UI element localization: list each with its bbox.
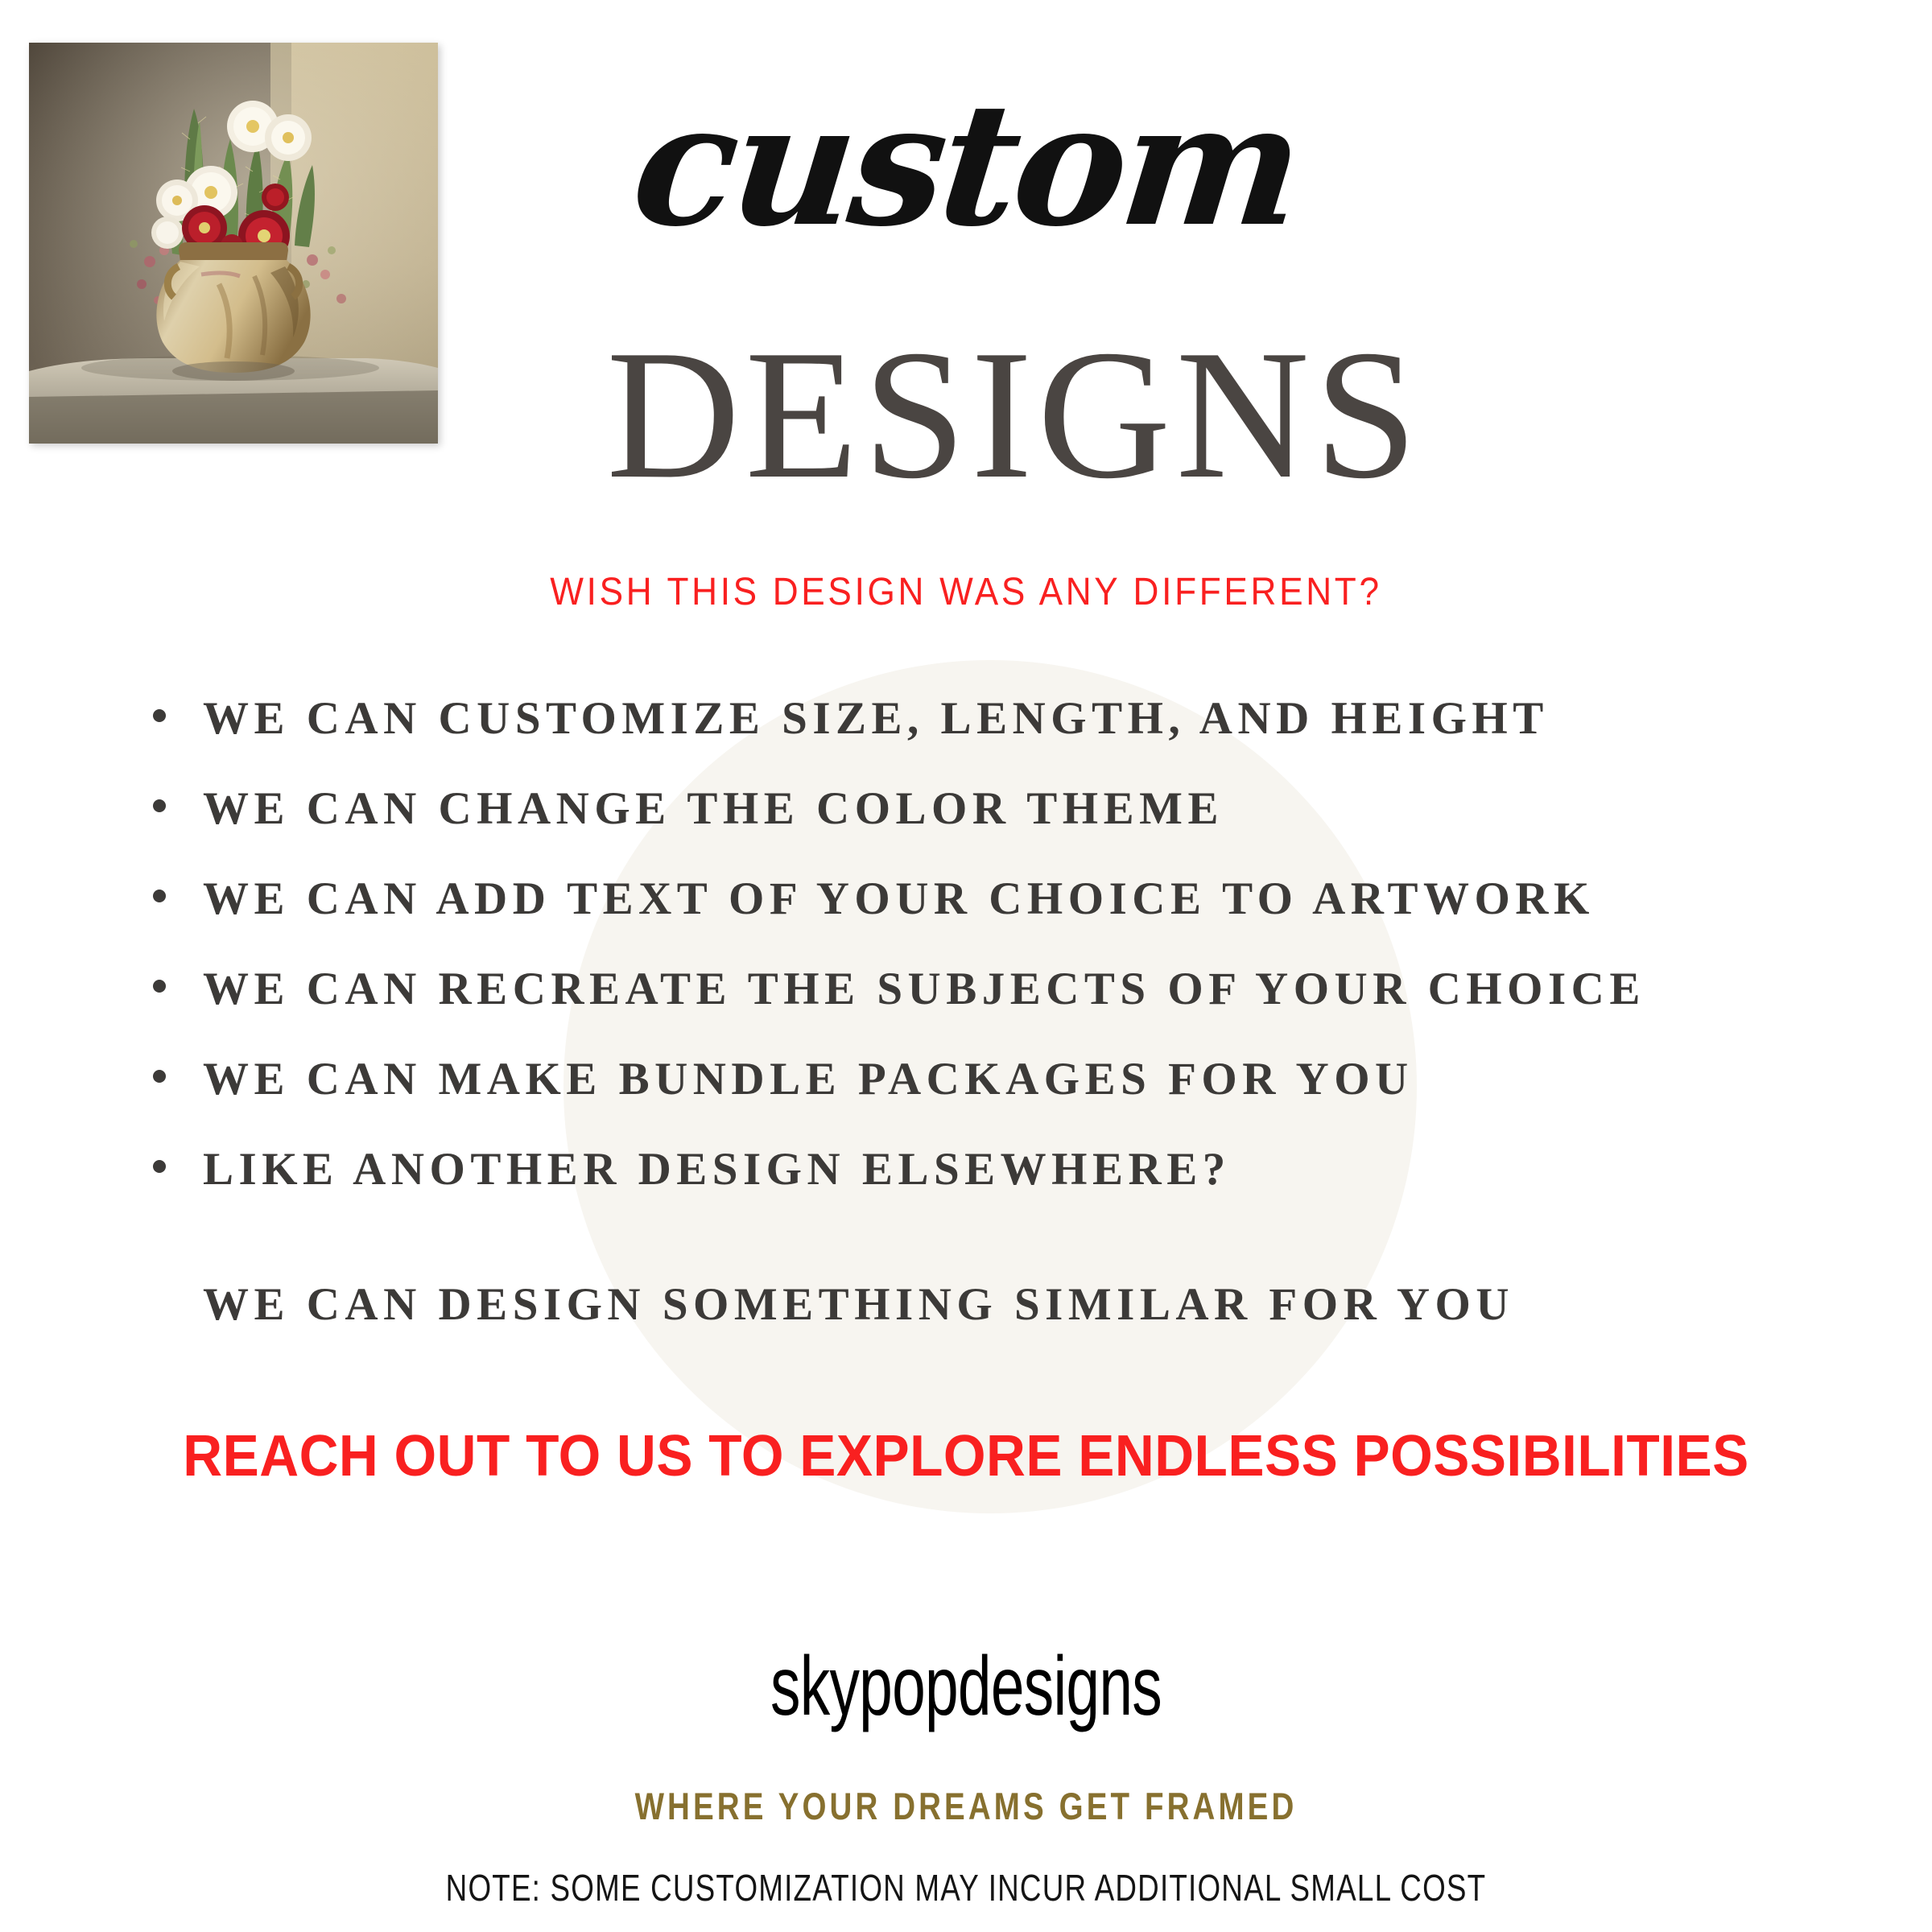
list-item: WE CAN MAKE BUNDLE PACKAGES FOR YOU	[153, 1053, 1803, 1143]
page-title-designs: DESIGNS	[0, 322, 1932, 507]
list-item-label: WE CAN CHANGE THE COLOR THEME	[203, 782, 1224, 835]
brand-tagline: WHERE YOUR DREAMS GET FRAMED	[174, 1784, 1758, 1828]
list-item-label: WE CAN MAKE BUNDLE PACKAGES FOR YOU	[203, 1053, 1414, 1105]
bullet-dot-icon	[153, 1070, 166, 1083]
list-item-label: WE CAN RECREATE THE SUBJECTS OF YOUR CHO…	[203, 963, 1645, 1015]
list-item-label: LIKE ANOTHER DESIGN ELSEWHERE?	[203, 1143, 1231, 1195]
bullet-dot-icon	[153, 799, 166, 812]
bullet-dot-icon	[153, 1160, 166, 1173]
script-heading-custom: custom	[0, 80, 1932, 250]
list-item-continuation: WE CAN DESIGN SOMETHING SIMILAR FOR YOU	[203, 1278, 1514, 1331]
bullet-dot-icon	[153, 709, 166, 722]
list-item: WE CAN CUSTOMIZE SIZE, LENGTH, AND HEIGH…	[153, 692, 1803, 782]
call-to-action-text: REACH OUT TO US TO EXPLORE ENDLESS POSSI…	[58, 1423, 1874, 1489]
list-item: WE CAN CHANGE THE COLOR THEME	[153, 782, 1803, 873]
bullet-dot-icon	[153, 980, 166, 993]
list-item-label: WE CAN ADD TEXT OF YOUR CHOICE TO ARTWOR…	[203, 873, 1595, 925]
feature-list: WE CAN CUSTOMIZE SIZE, LENGTH, AND HEIGH…	[153, 692, 1803, 1233]
list-item: WE CAN ADD TEXT OF YOUR CHOICE TO ARTWOR…	[153, 873, 1803, 963]
list-item-label: WE CAN CUSTOMIZE SIZE, LENGTH, AND HEIGH…	[203, 692, 1549, 745]
list-item: WE CAN RECREATE THE SUBJECTS OF YOUR CHO…	[153, 963, 1803, 1053]
footer-note: NOTE: SOME CUSTOMIZATION MAY INCUR ADDIT…	[193, 1866, 1739, 1909]
bullet-dot-icon	[153, 890, 166, 902]
subtitle-question: WISH THIS DESIGN WAS ANY DIFFERENT?	[77, 570, 1855, 614]
brand-logo: skypopdesigns	[270, 1639, 1662, 1735]
list-item: LIKE ANOTHER DESIGN ELSEWHERE?	[153, 1143, 1803, 1233]
